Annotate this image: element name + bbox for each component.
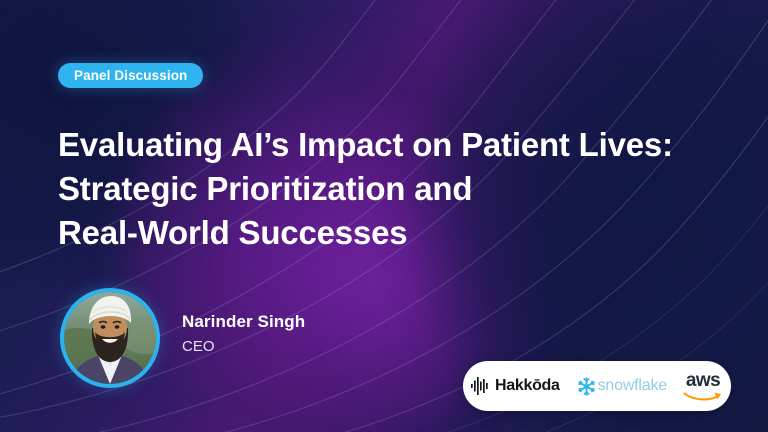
speaker-portrait-icon	[64, 292, 156, 384]
presentation-slide: Panel Discussion Evaluating AI’s Impact …	[0, 0, 768, 432]
title-line-2: Strategic Prioritization and	[58, 167, 698, 211]
badge-label: Panel Discussion	[74, 68, 187, 83]
title-line-1: Evaluating AI’s Impact on Patient Lives:	[58, 123, 698, 167]
title-line-3: Real-World Successes	[58, 211, 698, 255]
aws-swoosh-icon	[683, 390, 723, 401]
panel-discussion-badge: Panel Discussion	[58, 63, 203, 88]
speaker-name: Narinder Singh	[182, 312, 305, 332]
hakkoda-bars-icon	[471, 377, 490, 395]
speaker-role: CEO	[182, 338, 305, 355]
speaker-info: Narinder Singh CEO	[182, 312, 305, 355]
logo-hakkoda: Hakkōda	[471, 377, 560, 395]
logo-aws: aws	[683, 372, 723, 401]
sponsor-logo-bar: Hakkōda snowflake	[463, 361, 731, 411]
snowflake-wordmark: snowflake	[598, 377, 667, 395]
hakkoda-wordmark: Hakkōda	[495, 377, 560, 395]
aws-wordmark: aws	[686, 372, 720, 389]
page-title: Evaluating AI’s Impact on Patient Lives:…	[58, 123, 698, 255]
snowflake-icon	[576, 376, 597, 397]
avatar	[60, 288, 160, 388]
logo-snowflake: snowflake	[576, 376, 667, 397]
